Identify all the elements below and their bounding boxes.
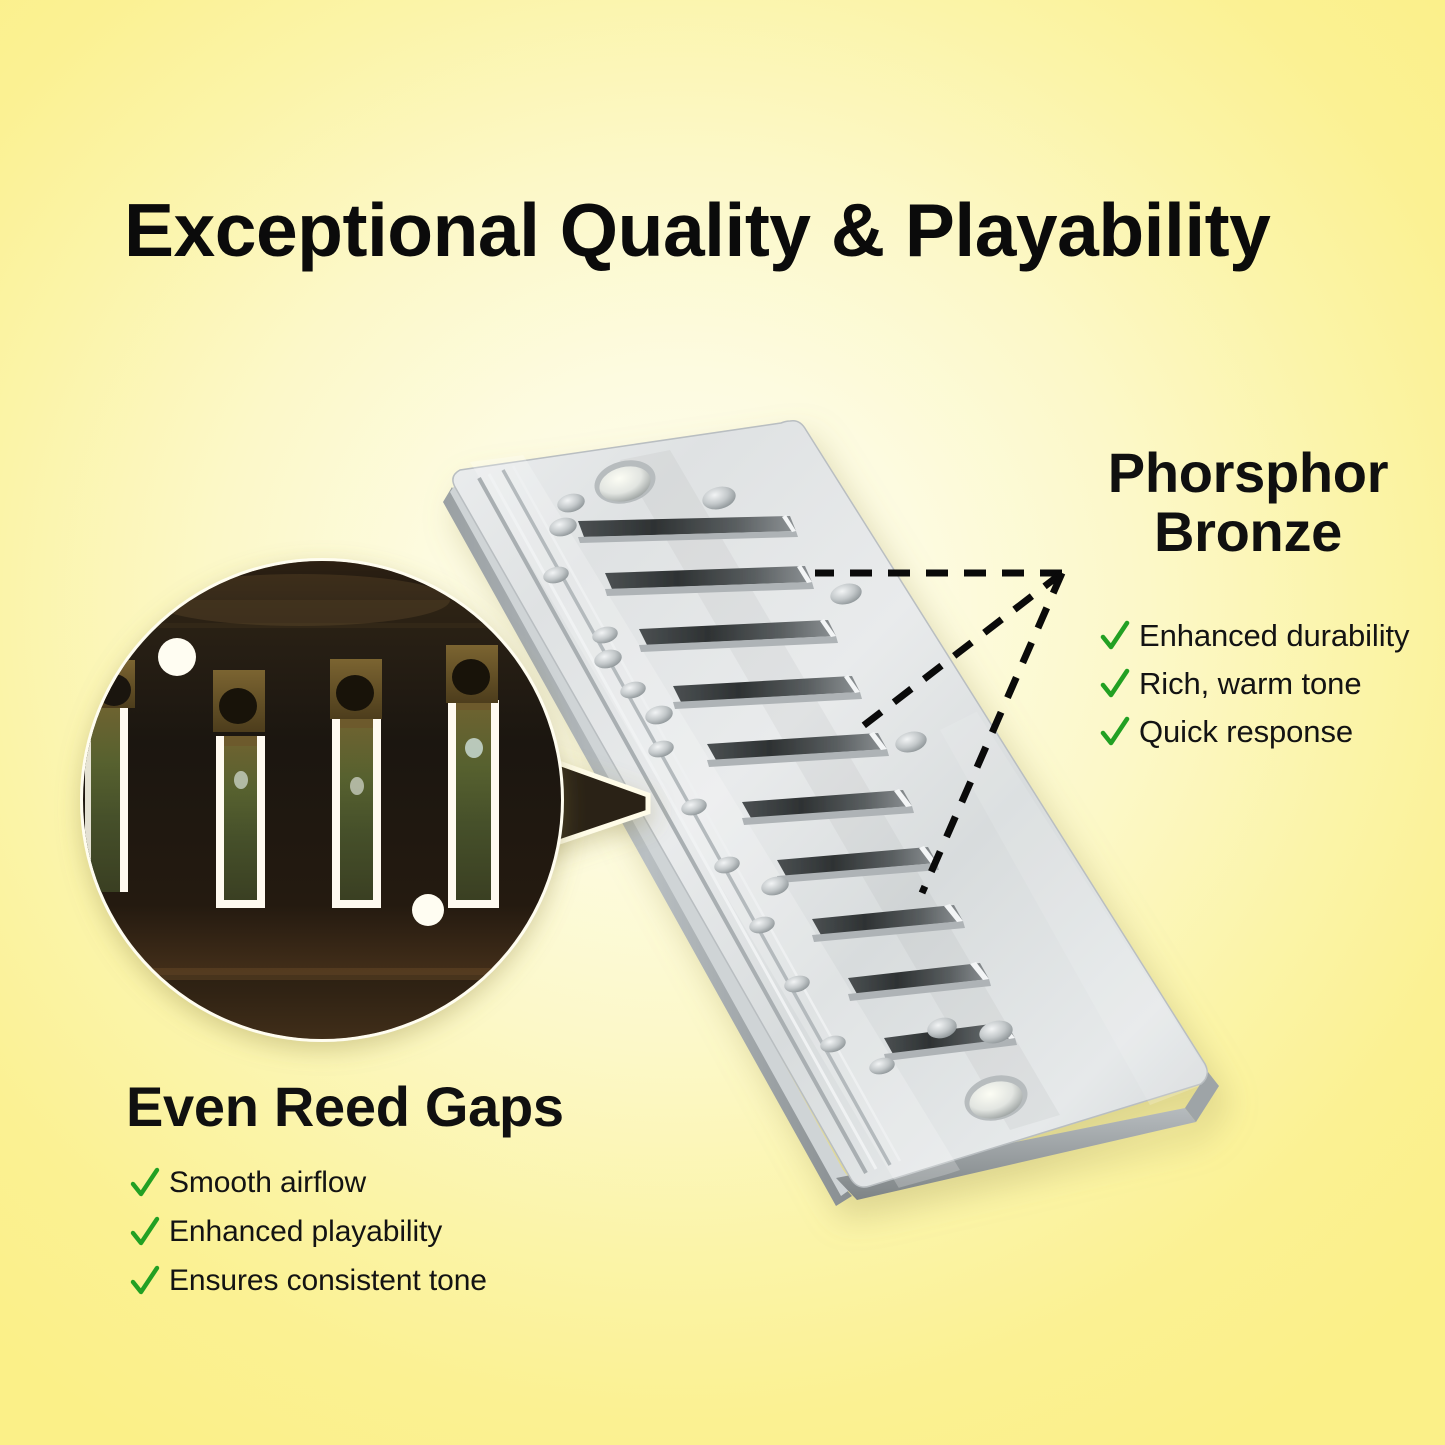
list-item: Enhanced playability	[130, 1207, 487, 1256]
infographic-page: Exceptional Quality & Playability Phorsp…	[0, 0, 1445, 1445]
heading-line-2: Bronze	[1154, 500, 1342, 563]
list-item: Ensures consistent tone	[130, 1256, 487, 1305]
list-item: Quick response	[1100, 708, 1409, 756]
check-icon	[1100, 667, 1130, 701]
page-title: Exceptional Quality & Playability	[124, 193, 1270, 268]
list-item: Enhanced durability	[1100, 612, 1409, 660]
list-item: Smooth airflow	[130, 1158, 487, 1207]
list-item-label: Enhanced durability	[1139, 618, 1409, 654]
pointer-lines	[815, 573, 1062, 893]
bullet-list-even-reed-gaps: Smooth airflow Enhanced playability Ensu…	[130, 1158, 487, 1305]
list-item-label: Ensures consistent tone	[169, 1264, 487, 1298]
list-item-label: Smooth airflow	[169, 1166, 366, 1200]
section-heading-phosphor-bronze: Phorsphor Bronze	[1078, 443, 1418, 562]
heading-line-1: Phorsphor	[1108, 441, 1388, 504]
bullet-list-phosphor-bronze: Enhanced durability Rich, warm tone Quic…	[1100, 612, 1409, 756]
check-icon	[130, 1264, 160, 1298]
check-icon	[130, 1166, 160, 1200]
list-item-label: Enhanced playability	[169, 1215, 442, 1249]
section-heading-even-reed-gaps: Even Reed Gaps	[126, 1077, 564, 1136]
list-item-label: Rich, warm tone	[1139, 666, 1361, 702]
list-item: Rich, warm tone	[1100, 660, 1409, 708]
list-item-label: Quick response	[1139, 714, 1353, 750]
check-icon	[1100, 715, 1130, 749]
check-icon	[130, 1215, 160, 1249]
check-icon	[1100, 619, 1130, 653]
